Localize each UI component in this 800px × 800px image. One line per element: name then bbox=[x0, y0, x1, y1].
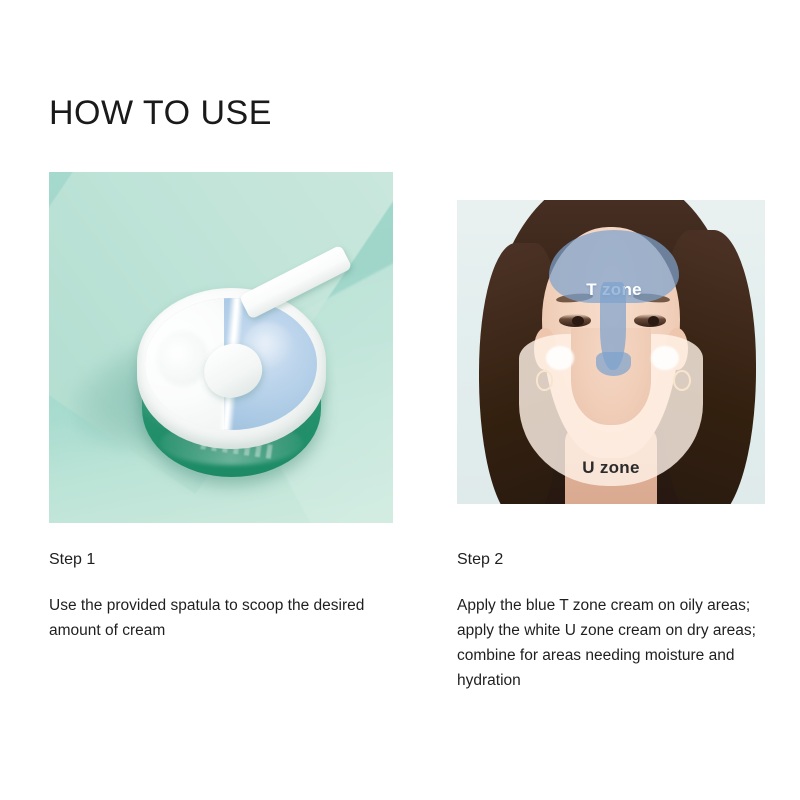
step-1-label: Step 1 bbox=[49, 550, 95, 569]
u-zone-label: U zone bbox=[519, 458, 704, 478]
step-2-label: Step 2 bbox=[457, 550, 503, 569]
step-1-description: Use the provided spatula to scoop the de… bbox=[49, 593, 401, 643]
eye-right bbox=[634, 314, 666, 327]
step-1-image bbox=[49, 172, 393, 523]
page-title: HOW TO USE bbox=[49, 95, 272, 132]
u-zone-cream-dab-left bbox=[546, 346, 574, 370]
cream-jar-photo bbox=[49, 172, 393, 523]
face-zones-photo: U zone T zone bbox=[457, 200, 765, 504]
eye-left bbox=[559, 314, 591, 327]
step-2-image: U zone T zone bbox=[457, 200, 765, 504]
u-zone-cream-dab-right bbox=[651, 346, 679, 370]
step-2-description: Apply the blue T zone cream on oily area… bbox=[457, 593, 787, 693]
how-to-use-page: HOW TO USE bbox=[0, 0, 800, 800]
